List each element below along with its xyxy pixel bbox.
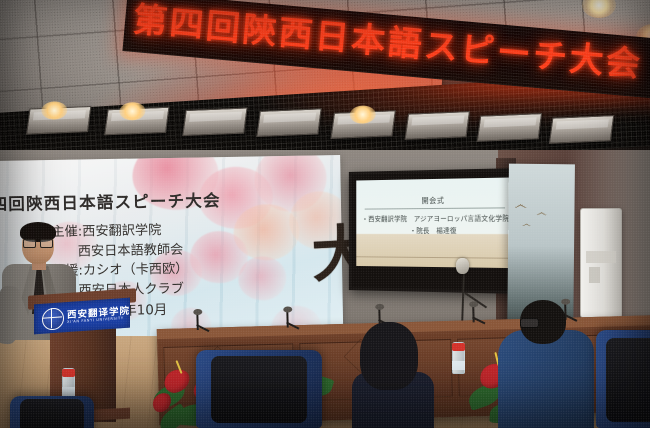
slide-bullet-2: ・院長 楊達復 bbox=[356, 225, 514, 235]
chair-cushion bbox=[20, 399, 84, 428]
cloud-motif-icon: ෴ bbox=[522, 220, 531, 230]
slide-title: 開会式 bbox=[356, 195, 514, 207]
slide-floor-line bbox=[356, 256, 514, 259]
microphone-icon bbox=[456, 258, 469, 274]
air-conditioner-unit bbox=[580, 208, 622, 318]
university-globe-emblem-icon bbox=[42, 307, 64, 331]
stage-light-fixture bbox=[549, 115, 614, 144]
audience-chair bbox=[196, 350, 322, 428]
eyeglasses-icon bbox=[520, 318, 539, 328]
table-microphone-icon bbox=[196, 314, 198, 330]
stage-light-fixture bbox=[477, 113, 542, 142]
stage-light-fixture bbox=[405, 111, 470, 140]
projector-screen-frame: 開会式 ・西安翻訳学院 アジアヨーロッパ言語文化学院 ・院長 楊達復 bbox=[349, 168, 523, 294]
stage-light-fixture bbox=[182, 107, 247, 136]
chair-cushion bbox=[211, 356, 307, 423]
audience-chair bbox=[10, 396, 94, 428]
slide-divider bbox=[365, 207, 505, 209]
audience-chair bbox=[596, 330, 650, 428]
photograph-scene: 第四回陝西日本語スピーチ大会 第四回陝西日本語スピーチ大会 主催:西安翻訳学院 … bbox=[0, 0, 650, 428]
slide-bullet-1: ・西安翻訳学院 アジアヨーロッパ言語文化学院 bbox=[362, 212, 508, 223]
cloud-motif-icon: ෴ bbox=[514, 198, 526, 213]
table-microphone-icon bbox=[286, 311, 288, 327]
chair-cushion bbox=[606, 338, 650, 422]
cloud-motif-icon: ෴ bbox=[536, 206, 547, 220]
water-bottle bbox=[452, 342, 465, 374]
eyeglasses-icon bbox=[23, 239, 53, 246]
stage-light-fixture bbox=[256, 108, 321, 137]
table-microphone-icon bbox=[472, 306, 474, 322]
projector-screen: 開会式 ・西安翻訳学院 アジアヨーロッパ言語文化学院 ・院長 楊達復 bbox=[356, 177, 514, 268]
